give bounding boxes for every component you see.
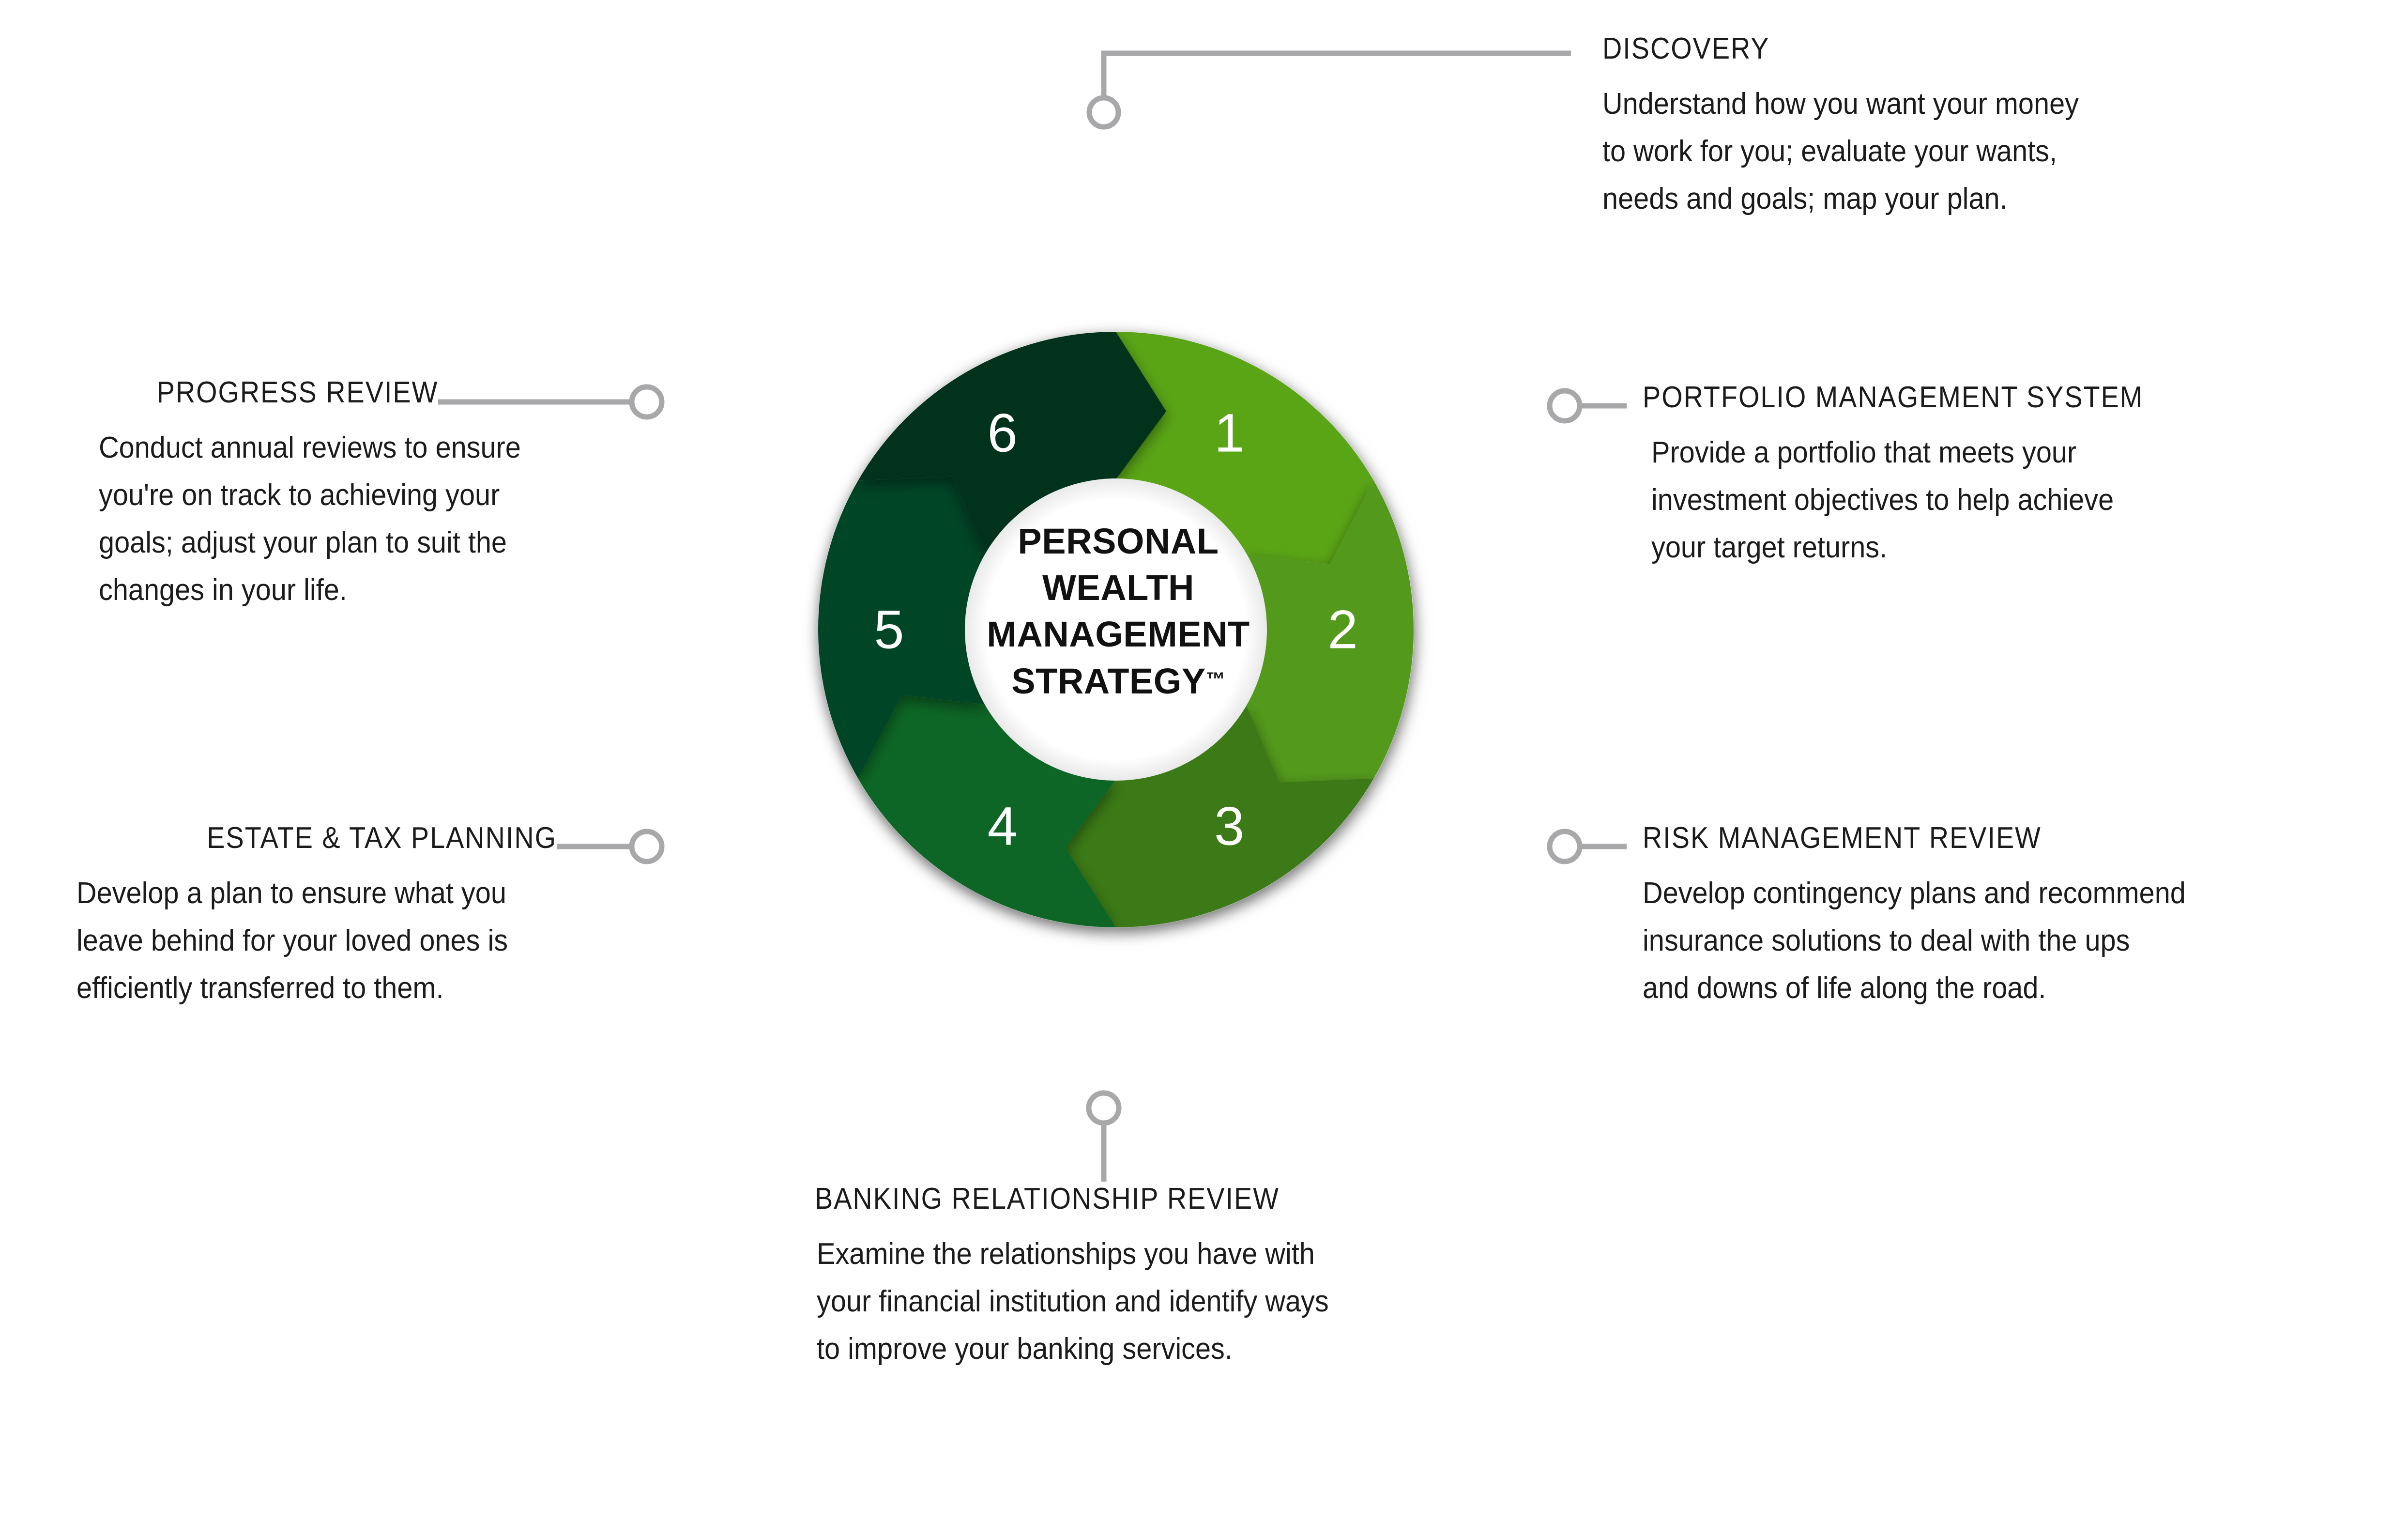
callout-portfolio-line-2: investment objectives to help achieve	[1651, 477, 2373, 524]
callout-risk-line-1: Develop contingency plans and recommend	[1643, 870, 2381, 917]
callout-risk-line-3: and downs of life along the road.	[1643, 965, 2381, 1012]
callout-banking: BANKING RELATIONSHIP REVIEW Examine the …	[815, 1184, 1618, 1373]
connector-risk	[1550, 831, 1627, 862]
callout-discovery-line-1: Understand how you want your money	[1602, 80, 2323, 128]
callout-banking-line-2: your financial institution and identify …	[817, 1278, 1562, 1325]
connector-estate	[557, 831, 662, 862]
callout-discovery-line-3: needs and goals; map your plan.	[1602, 175, 2323, 223]
callout-estate-line-2: leave behind for your loved ones is	[76, 917, 523, 965]
callout-progress: PROGRESS REVIEW Conduct annual reviews t…	[73, 378, 438, 614]
connector-portfolio	[1550, 391, 1627, 421]
callout-risk-body: Develop contingency plans and recommend …	[1643, 870, 2381, 1012]
callout-banking-title: BANKING RELATIONSHIP REVIEW	[815, 1184, 1538, 1214]
callout-progress-line-3: goals; adjust your plan to suit the	[99, 519, 414, 567]
callout-banking-body: Examine the relationships you have with …	[817, 1231, 1562, 1373]
callout-estate-line-3: efficiently transferred to them.	[76, 965, 523, 1012]
callout-discovery-line-2: to work for you; evaluate your wants,	[1602, 128, 2323, 175]
callout-discovery: DISCOVERY Understand how you want your m…	[1602, 34, 2377, 223]
callout-estate-line-1: Develop a plan to ensure what you	[76, 870, 523, 917]
callout-estate: ESTATE & TAX PLANNING Develop a plan to …	[73, 823, 557, 1012]
callout-portfolio-body: Provide a portfolio that meets your inve…	[1651, 429, 2373, 571]
connector-banking	[1089, 1093, 1119, 1182]
callout-portfolio-line-3: your target returns.	[1651, 524, 2373, 571]
callout-progress-line-2: you're on track to achieving your	[99, 472, 414, 519]
callout-discovery-title: DISCOVERY	[1602, 34, 2300, 64]
callout-banking-line-3: to improve your banking services.	[817, 1325, 1562, 1373]
callout-progress-body: Conduct annual reviews to ensure you're …	[99, 424, 414, 614]
callout-portfolio-line-1: Provide a portfolio that meets your	[1651, 429, 2373, 477]
callout-progress-line-4: changes in your life.	[99, 567, 414, 614]
callout-risk-line-2: insurance solutions to deal with the ups	[1643, 917, 2381, 965]
callout-estate-body: Develop a plan to ensure what you leave …	[76, 870, 523, 1012]
callout-progress-title: PROGRESS REVIEW	[156, 378, 438, 408]
callout-risk: RISK MANAGEMENT REVIEW Develop contingen…	[1643, 823, 2408, 1012]
diagram-canvas: 123456 PERSONAL WEALTH MANAGEMENT STRATE…	[0, 0, 2408, 1539]
callout-portfolio: PORTFOLIO MANAGEMENT SYSTEM Provide a po…	[1643, 383, 2408, 571]
callout-banking-line-1: Examine the relationships you have with	[817, 1231, 1562, 1278]
connector-discovery	[1089, 53, 1571, 127]
callout-estate-title: ESTATE & TAX PLANNING	[207, 823, 557, 853]
callout-portfolio-title: PORTFOLIO MANAGEMENT SYSTEM	[1643, 383, 2348, 413]
callout-progress-line-1: Conduct annual reviews to ensure	[99, 424, 414, 472]
connector-progress	[438, 387, 662, 417]
callout-discovery-body: Understand how you want your money to wo…	[1602, 80, 2323, 223]
callout-risk-title: RISK MANAGEMENT REVIEW	[1643, 823, 2357, 853]
